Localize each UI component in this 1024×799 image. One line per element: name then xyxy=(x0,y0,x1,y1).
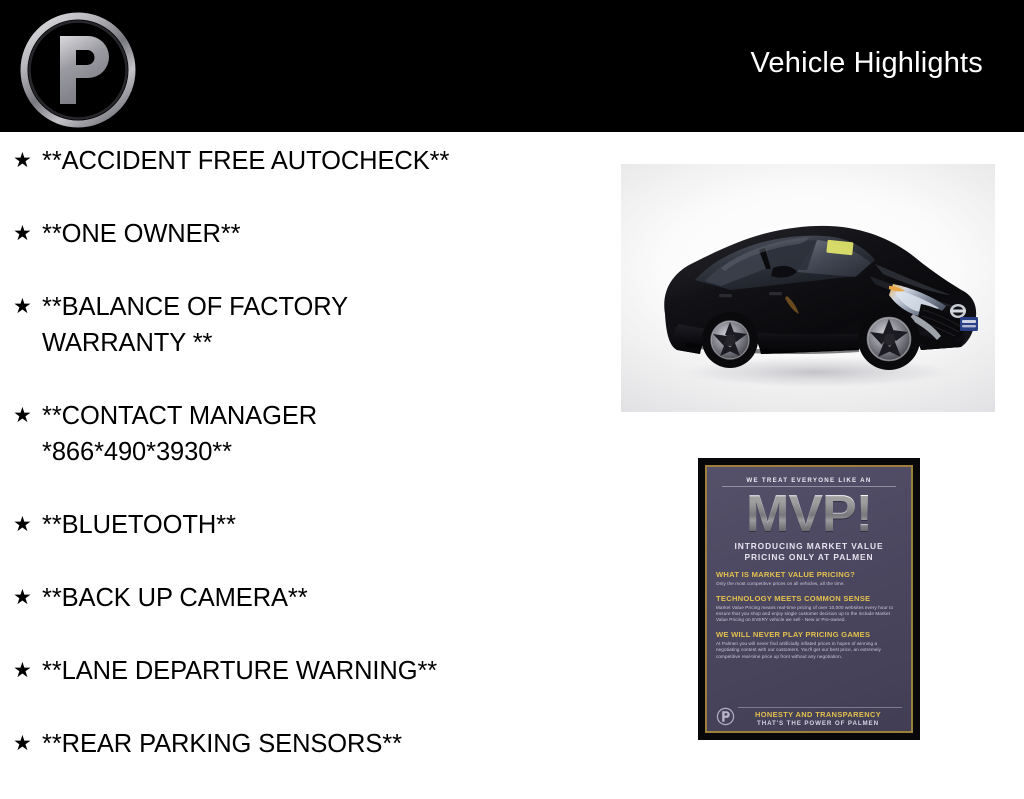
mvp-subtitle: INTRODUCING MARKET VALUE PRICING ONLY AT… xyxy=(716,541,902,563)
mvp-section-body: Market Value Pricing means real-time pri… xyxy=(716,605,902,623)
list-item-label: **LANE DEPARTURE WARNING** xyxy=(42,653,600,689)
mvp-poster-footer: HONESTY AND TRANSPARENCY THAT'S THE POWE… xyxy=(716,707,902,727)
list-item: ★ **ACCIDENT FREE AUTOCHECK** xyxy=(0,143,600,179)
star-bullet-icon: ★ xyxy=(13,580,32,616)
list-item: ★ **REAR PARKING SENSORS** xyxy=(0,726,600,762)
circled-p-logo-icon xyxy=(716,707,735,726)
mvp-section-body: Only the most competitive prices on all … xyxy=(716,581,902,587)
list-item: ★ **BACK UP CAMERA** xyxy=(0,580,600,616)
mvp-section-heading: WE WILL NEVER PLAY PRICING GAMES xyxy=(716,630,902,639)
page-header: Vehicle Highlights xyxy=(0,0,1024,132)
star-bullet-icon: ★ xyxy=(13,726,32,762)
mvp-divider xyxy=(722,486,896,487)
mvp-pricing-poster[interactable]: WE TREAT EVERYONE LIKE AN MVP! INTRODUCI… xyxy=(698,458,920,740)
mvp-section: WHAT IS MARKET VALUE PRICING? Only the m… xyxy=(716,570,902,587)
mvp-section-heading: WHAT IS MARKET VALUE PRICING? xyxy=(716,570,902,579)
list-item: ★ **CONTACT MANAGER *866*490*3930** xyxy=(0,398,600,470)
list-item-label: **CONTACT MANAGER *866*490*3930** xyxy=(42,398,600,470)
mvp-section-heading: TECHNOLOGY MEETS COMMON SENSE xyxy=(716,594,902,603)
list-item-label: **BACK UP CAMERA** xyxy=(42,580,600,616)
star-bullet-icon: ★ xyxy=(13,143,32,179)
star-bullet-icon: ★ xyxy=(13,216,32,252)
page-title: Vehicle Highlights xyxy=(750,47,983,80)
list-item-label: **BLUETOOTH** xyxy=(42,507,600,543)
list-item-label: **BALANCE OF FACTORY WARRANTY ** xyxy=(42,289,600,361)
mvp-footer-divider xyxy=(738,707,902,708)
star-bullet-icon: ★ xyxy=(13,507,32,543)
star-bullet-icon: ★ xyxy=(13,289,32,325)
mvp-tagline-sub: THAT'S THE POWER OF PALMEN xyxy=(716,720,902,727)
mvp-tagline: HONESTY AND TRANSPARENCY xyxy=(716,710,902,719)
star-bullet-icon: ★ xyxy=(13,653,32,689)
mvp-eyebrow-text: WE TREAT EVERYONE LIKE AN xyxy=(716,477,902,484)
vehicle-photo[interactable] xyxy=(621,164,995,412)
vehicle-highlights-list: ★ **ACCIDENT FREE AUTOCHECK** ★ **ONE OW… xyxy=(0,143,600,799)
list-item: ★ **LANE DEPARTURE WARNING** xyxy=(0,653,600,689)
mvp-section-body: At Palmen you will never find artificial… xyxy=(716,641,902,659)
mvp-section: TECHNOLOGY MEETS COMMON SENSE Market Val… xyxy=(716,594,902,623)
mvp-section: WE WILL NEVER PLAY PRICING GAMES At Palm… xyxy=(716,630,902,659)
list-item-label: **ONE OWNER** xyxy=(42,216,600,252)
circled-p-logo-icon xyxy=(16,11,140,129)
mvp-wordmark: MVP! xyxy=(716,488,902,540)
list-item: ★ **BLUETOOTH** xyxy=(0,507,600,543)
list-item: ★ **BALANCE OF FACTORY WARRANTY ** xyxy=(0,289,600,361)
list-item-label: **ACCIDENT FREE AUTOCHECK** xyxy=(42,143,600,179)
mvp-poster-inner: WE TREAT EVERYONE LIKE AN MVP! INTRODUCI… xyxy=(705,465,913,733)
list-item: ★ **ONE OWNER** xyxy=(0,216,600,252)
list-item-label: **REAR PARKING SENSORS** xyxy=(42,726,600,762)
star-bullet-icon: ★ xyxy=(13,398,32,434)
